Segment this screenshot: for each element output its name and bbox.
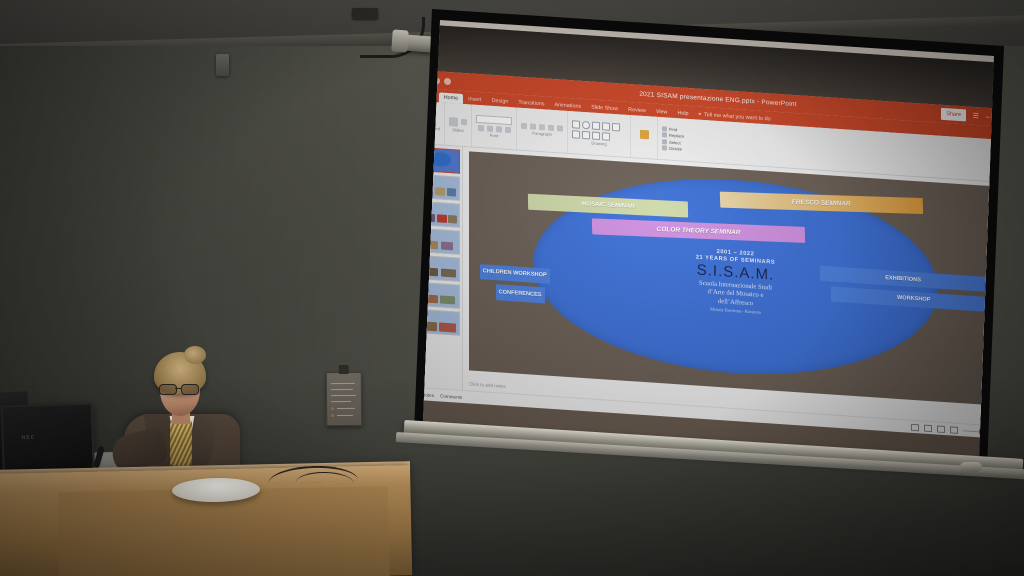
glasses-lens-left [159, 384, 177, 395]
start-button[interactable] [422, 443, 430, 452]
align-center-icon[interactable] [548, 125, 554, 131]
dictate-command[interactable]: Dictate [662, 145, 684, 151]
thumbnail-image [447, 188, 456, 196]
ribbon-group-slides[interactable]: Slides [445, 103, 472, 147]
ribbon-group-paragraph[interactable]: Paragraph [517, 108, 568, 153]
ribbon-group-label: Font [490, 133, 498, 139]
thumbnail-image [437, 214, 447, 223]
find-label: Find [669, 126, 677, 132]
ribbon-group-label: Paragraph [532, 131, 552, 137]
thumbnail-image [441, 269, 456, 278]
task-view-icon[interactable] [450, 445, 458, 454]
replace-label: Replace [669, 133, 684, 139]
numbering-icon[interactable] [530, 123, 536, 129]
ribbon-group-drawing[interactable]: Drawing [568, 111, 631, 157]
ribbon-group-arrange[interactable] [631, 115, 658, 159]
wall-control-panel [326, 372, 362, 426]
slide-show-view-icon[interactable] [950, 426, 958, 434]
ribbon-group-label: Drawing [591, 141, 606, 147]
bold-icon[interactable] [478, 125, 484, 131]
slide-editing-stage[interactable]: MOSAIC SEMINAR FRESCO SEMINAR COLOR THEO… [463, 147, 1018, 427]
glasses-bridge [175, 388, 181, 389]
shape-chevron-icon[interactable] [592, 132, 600, 141]
search-icon[interactable] [436, 444, 444, 453]
screen-pull-knob [960, 462, 982, 472]
lightbulb-icon: ⚭ [698, 112, 703, 118]
projected-image-clip: 2021 SISAM presentazione ENG.pptx - Powe… [404, 6, 1004, 476]
shapes-gallery[interactable] [572, 120, 626, 142]
align-right-icon[interactable] [557, 125, 563, 131]
powerpoint-taskbar-icon[interactable] [492, 448, 500, 457]
underline-icon[interactable] [496, 126, 502, 132]
italic-icon[interactable] [487, 126, 493, 132]
powerpoint-workspace: MOSAIC SEMINAR FRESCO SEMINAR COLOR THEO… [418, 144, 1018, 427]
mail-icon[interactable] [478, 447, 486, 456]
shape-more-icon[interactable] [602, 132, 610, 141]
file-explorer-icon[interactable] [464, 446, 472, 455]
tag-conferences[interactable]: CONFERENCES [496, 285, 545, 304]
shape-oval-icon[interactable] [582, 121, 590, 130]
microphone-icon [662, 145, 667, 150]
slide-sorter-view-icon[interactable] [924, 424, 932, 432]
powerpoint-window[interactable]: 2021 SISAM presentazione ENG.pptx - Powe… [418, 70, 1018, 426]
font-color-icon[interactable] [505, 127, 511, 133]
wall-panel-line [337, 408, 355, 410]
find-command[interactable]: Find [662, 126, 684, 132]
save-icon[interactable] [422, 76, 429, 83]
wall-panel-line [331, 389, 353, 391]
select-command[interactable]: Select [662, 139, 684, 145]
normal-view-icon[interactable] [911, 423, 919, 431]
thumbnail-image [448, 215, 456, 223]
arrange-label [643, 139, 644, 144]
minimize-button[interactable]: – [986, 113, 990, 120]
replace-icon [662, 132, 667, 137]
arrange-icon[interactable] [640, 129, 649, 139]
wall-panel-line [337, 415, 353, 417]
presenter-scarf [170, 420, 192, 466]
layout-icon[interactable] [461, 119, 467, 125]
wall-panel-line [331, 383, 355, 385]
wall-panel-line [331, 401, 351, 403]
dictate-label: Dictate [669, 146, 682, 152]
shape-line-icon[interactable] [602, 122, 610, 131]
presenter-hair-bun [184, 346, 206, 364]
wall-panel-button[interactable] [331, 414, 334, 417]
find-icon [662, 126, 667, 131]
thumbnail-image [440, 295, 455, 304]
share-button[interactable]: Share [941, 108, 966, 122]
lecture-room-scene: 2021 SISAM presentazione ENG.pptx - Powe… [0, 0, 1024, 576]
wall-panel-head [339, 365, 349, 374]
projected-desktop: 2021 SISAM presentazione ENG.pptx - Powe… [418, 24, 1018, 494]
wall-sensor [216, 54, 229, 76]
select-icon [662, 139, 667, 144]
shape-star-icon[interactable] [572, 130, 580, 139]
presenter-glasses [158, 384, 200, 393]
projection-screen: 2021 SISAM presentazione ENG.pptx - Powe… [404, 6, 1004, 476]
status-comments-button[interactable]: Comments [440, 393, 462, 399]
shape-triangle-icon[interactable] [612, 123, 620, 132]
bullets-icon[interactable] [521, 123, 527, 129]
shape-arrow-icon[interactable] [592, 122, 600, 131]
wall-panel-button[interactable] [331, 407, 334, 410]
thumbnail-image [435, 187, 444, 196]
ribbon-group-label: Slides [452, 127, 463, 133]
thumbnail-image [439, 322, 456, 332]
align-left-icon[interactable] [539, 124, 545, 130]
shape-rectangle-icon[interactable] [572, 120, 580, 129]
ribbon-group-editing[interactable]: Find Replace Select [658, 117, 688, 161]
laptop-brand-label: NEC [22, 434, 36, 440]
thumbnail-image [441, 241, 453, 251]
select-label: Select [669, 139, 681, 145]
replace-command[interactable]: Replace [662, 132, 684, 138]
ribbon-group-font[interactable]: Font [472, 105, 517, 150]
ribbon-display-options-icon[interactable]: ☰ [973, 112, 979, 120]
status-right-cluster[interactable]: 100% [911, 423, 1014, 437]
font-name-box[interactable] [476, 115, 512, 125]
wall-panel-line [331, 395, 356, 397]
reading-view-icon[interactable] [937, 425, 945, 433]
current-slide[interactable]: MOSAIC SEMINAR FRESCO SEMINAR COLOR THEO… [469, 151, 1002, 405]
glasses-lens-right [181, 384, 199, 395]
shape-callout-icon[interactable] [582, 131, 590, 140]
notes-placeholder[interactable]: Click to add notes [469, 381, 506, 388]
new-slide-icon[interactable] [449, 117, 458, 127]
